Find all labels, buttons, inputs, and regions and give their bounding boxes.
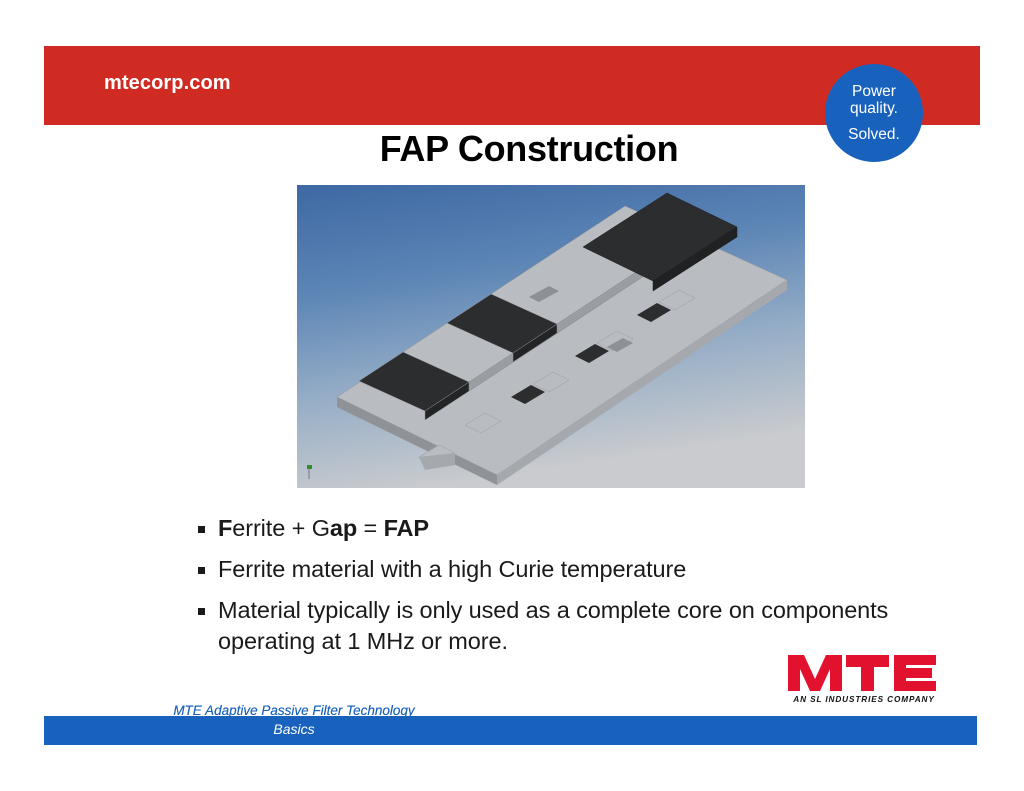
bullet-2-text: Material typically is only used as a com… [218,597,888,654]
slide: mtecorp.com Power quality. Solved. FAP C… [0,0,1024,791]
bullet-0-part-1: errite + G [232,515,330,541]
fap-core-cad-image [297,185,805,488]
badge-line-1: Power [852,83,896,100]
site-url-text: mtecorp.com [104,72,231,95]
bullet-1-text: Ferrite material with a high Curie tempe… [218,556,686,582]
slide-title: FAP Construction [0,128,1024,170]
mte-wordmark-icon: AN SL INDUSTRIES COMPANY [784,651,944,705]
mte-tagline: AN SL INDUSTRIES COMPANY [792,695,935,704]
bullet-0-part-4: FAP [384,515,429,541]
badge-line-2: quality. [850,100,898,117]
gapped-ferrite-core-render [297,185,805,488]
footer-subtitle: Basics [44,721,544,737]
list-item: Ferrite + Gap = FAP [196,513,896,544]
bullet-list: Ferrite + Gap = FAP Ferrite material wit… [196,513,896,667]
bullet-0-part-0: F [218,515,232,541]
list-item: Material typically is only used as a com… [196,595,896,657]
mte-logo: AN SL INDUSTRIES COMPANY [784,651,944,705]
bullet-0-part-3: = [357,515,383,541]
coordinate-axis-triad-icon [305,464,317,480]
bullet-0-part-2: ap [330,515,357,541]
list-item: Ferrite material with a high Curie tempe… [196,554,896,585]
